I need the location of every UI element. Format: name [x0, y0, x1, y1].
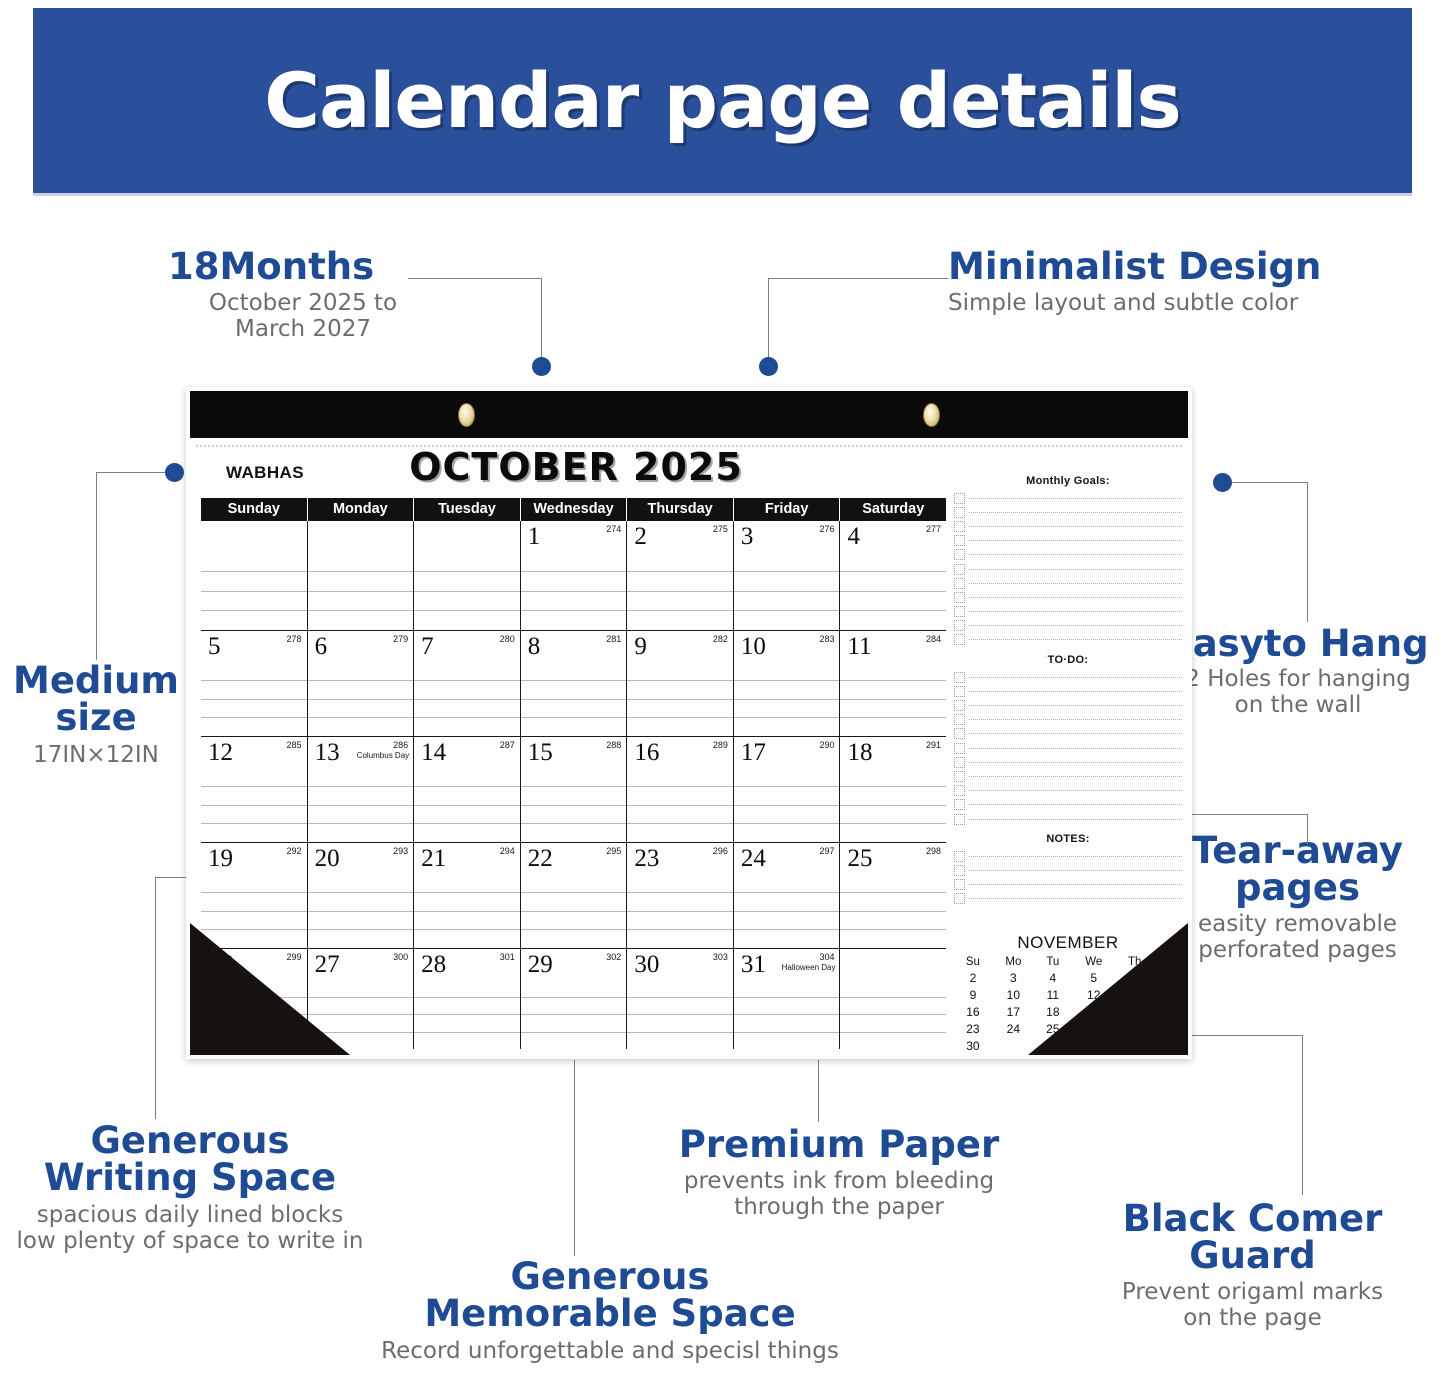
writing-line [308, 571, 414, 572]
day-number: 3 [741, 524, 754, 549]
note-line[interactable] [954, 491, 1182, 505]
month-title: OCTOBER 2025 [186, 445, 966, 489]
weekday-header-sunday: Sunday [201, 498, 308, 521]
writing-line [521, 892, 627, 893]
day-number: 12 [208, 740, 233, 765]
checkbox-icon[interactable] [954, 728, 965, 739]
note-rule [969, 790, 1182, 791]
writing-line [521, 823, 627, 824]
note-line[interactable] [954, 863, 1182, 877]
leader-line-guard-v [1302, 1035, 1303, 1195]
writing-line [521, 1032, 627, 1033]
day-number: 6 [315, 634, 328, 659]
hanging-hole-icon [458, 403, 475, 427]
writing-line [521, 786, 627, 787]
writing-line [308, 823, 414, 824]
note-rule [969, 625, 1182, 626]
writing-lines [201, 873, 307, 948]
month-week-rows: 1274227532764277527862797280828192821028… [201, 521, 946, 1049]
checkbox-icon[interactable] [954, 893, 965, 904]
writing-line [414, 1014, 520, 1015]
calendar-header-bar [190, 391, 1188, 438]
writing-line [201, 717, 307, 718]
callout-18months-title: 18Months [168, 248, 438, 285]
day-number: 18 [847, 740, 872, 765]
checkbox-icon[interactable] [954, 714, 965, 725]
checkbox-icon[interactable] [954, 578, 965, 589]
callout-corner-guard-title: Black Comer Guard [1060, 1200, 1445, 1274]
calendar-day-cell[interactable]: 9282 [627, 631, 734, 736]
day-of-year: 286 [393, 740, 408, 750]
day-of-year: 294 [500, 846, 515, 856]
day-number: 4 [847, 524, 860, 549]
checkbox-icon[interactable] [954, 851, 965, 862]
note-line[interactable] [954, 505, 1182, 519]
notes-lines[interactable] [954, 849, 1182, 906]
leader-line-medium-h [96, 472, 174, 473]
mini-month-day: 17 [992, 1003, 1035, 1020]
note-line[interactable] [954, 812, 1182, 826]
day-of-year: 285 [287, 740, 302, 750]
calendar-day-cell[interactable]: 22295 [521, 843, 628, 948]
writing-line [840, 823, 946, 824]
calendar-day-cell[interactable]: 23296 [627, 843, 734, 948]
day-number: 7 [421, 634, 434, 659]
hanging-hole-icon [923, 403, 940, 427]
callout-tear-away: Tear-away pages easity removable perfora… [1150, 832, 1445, 964]
writing-line [840, 892, 946, 893]
notes-label: NOTES: [954, 833, 1182, 845]
day-number: 23 [634, 846, 659, 871]
calendar-day-cell[interactable]: 18291 [840, 737, 946, 842]
writing-line [734, 610, 840, 611]
callout-easy-hang-sub: 2 Holes for hanging on the wall [1148, 667, 1445, 719]
calendar-day-cell[interactable]: 24297 [734, 843, 841, 948]
checkbox-icon[interactable] [954, 535, 965, 546]
calendar-day-cell[interactable]: 15288 [521, 737, 628, 842]
note-rule [969, 856, 1182, 857]
writing-line [201, 911, 307, 912]
calendar-day-cell[interactable]: 31304Halloween Day [734, 949, 841, 1049]
writing-lines [627, 873, 733, 948]
callout-writing-space: Generous Writing Space spacious daily li… [0, 1122, 380, 1255]
checkbox-icon[interactable] [954, 799, 965, 810]
monthly-goals-lines[interactable] [954, 491, 1182, 647]
calendar-day-cell[interactable]: 19292 [201, 843, 308, 948]
mini-month-day: 30 [954, 1037, 992, 1054]
calendar-empty-cell[interactable] [840, 949, 946, 1049]
mini-month-day: 16 [954, 1003, 992, 1020]
note-rule [969, 639, 1182, 640]
writing-line [201, 892, 307, 893]
writing-line [521, 717, 627, 718]
day-number: 2 [634, 524, 647, 549]
checkbox-icon[interactable] [954, 865, 965, 876]
calendar-day-cell[interactable]: 5278 [201, 631, 308, 736]
calendar-day-cell[interactable]: 16289 [627, 737, 734, 842]
writing-line [201, 591, 307, 592]
header-banner: Calendar page details [33, 8, 1412, 193]
day-of-year: 288 [606, 740, 621, 750]
note-line[interactable] [954, 755, 1182, 769]
checkbox-icon[interactable] [954, 814, 965, 825]
writing-line [627, 610, 733, 611]
leader-dot-hang [1213, 473, 1232, 492]
mini-month-weekday: We [1071, 955, 1117, 969]
day-of-year: 302 [606, 952, 621, 962]
note-rule [969, 691, 1182, 692]
day-number: 11 [847, 634, 871, 659]
note-line[interactable] [954, 878, 1182, 892]
writing-line [414, 680, 520, 681]
day-number: 21 [421, 846, 446, 871]
calendar-day-cell[interactable]: 14287 [414, 737, 521, 842]
checkbox-icon[interactable] [954, 620, 965, 631]
leader-dot-minimalist [759, 357, 778, 376]
writing-lines [627, 661, 733, 736]
day-of-year: 274 [606, 524, 621, 534]
writing-line [734, 805, 840, 806]
note-rule [969, 583, 1182, 584]
day-of-year: 296 [713, 846, 728, 856]
writing-line [308, 929, 414, 930]
writing-line [840, 699, 946, 700]
writing-line [414, 823, 520, 824]
weekday-header-saturday: Saturday [840, 498, 946, 521]
calendar-day-cell[interactable]: 1274 [521, 521, 628, 630]
callout-medium-size-sub: 17IN×12IN [0, 743, 192, 769]
writing-lines [627, 551, 733, 630]
writing-line [840, 571, 946, 572]
callout-writing-space-title: Generous Writing Space [0, 1122, 380, 1196]
calendar-day-cell[interactable]: 6279 [308, 631, 415, 736]
writing-line [840, 1014, 946, 1015]
day-number: 24 [741, 846, 766, 871]
callout-medium-size-title: Medium size [0, 662, 192, 736]
mini-month-day: 2 [954, 969, 992, 986]
writing-line [734, 823, 840, 824]
checkbox-icon[interactable] [954, 785, 965, 796]
writing-line [840, 929, 946, 930]
note-rule [969, 526, 1182, 527]
writing-lines [414, 551, 520, 630]
day-of-year: 297 [819, 846, 834, 856]
note-rule [969, 898, 1182, 899]
writing-line [734, 571, 840, 572]
note-line[interactable] [954, 619, 1182, 633]
note-rule [969, 884, 1182, 885]
note-line[interactable] [954, 849, 1182, 863]
writing-line [414, 591, 520, 592]
leader-line-minimalist-v [768, 278, 769, 362]
day-number: 28 [421, 952, 446, 977]
writing-lines [521, 767, 627, 842]
writing-line [627, 892, 733, 893]
writing-line [201, 699, 307, 700]
todo-label: TO·DO: [954, 654, 1182, 666]
day-of-year: 290 [819, 740, 834, 750]
checkbox-icon[interactable] [954, 493, 965, 504]
calendar-day-cell[interactable]: 17290 [734, 737, 841, 842]
writing-lines [308, 661, 414, 736]
writing-lines [734, 979, 840, 1049]
day-of-year: 304 [819, 952, 834, 962]
day-number: 10 [741, 634, 766, 659]
month-grid: Sunday Monday Tuesday Wednesday Thursday… [201, 498, 946, 1046]
writing-line [627, 680, 733, 681]
note-rule [969, 677, 1182, 678]
note-line[interactable] [954, 798, 1182, 812]
writing-lines [627, 979, 733, 1049]
note-rule [969, 776, 1182, 777]
calendar-day-cell[interactable]: 21294 [414, 843, 521, 948]
note-line[interactable] [954, 519, 1182, 533]
writing-line [840, 805, 946, 806]
callout-minimalist-title: Minimalist Design [948, 248, 1368, 285]
leader-line-18months-v [541, 278, 542, 362]
day-number: 29 [528, 952, 553, 977]
writing-line [627, 786, 733, 787]
calendar-day-cell[interactable]: 10283 [734, 631, 841, 736]
checkbox-icon[interactable] [954, 507, 965, 518]
note-rule [969, 611, 1182, 612]
checkbox-icon[interactable] [954, 879, 965, 890]
note-line[interactable] [954, 576, 1182, 590]
calendar-day-cell[interactable]: 11284 [840, 631, 946, 736]
writing-lines [734, 873, 840, 948]
note-line[interactable] [954, 534, 1182, 548]
mini-month-empty [992, 1037, 1035, 1054]
writing-line [734, 1032, 840, 1033]
note-line[interactable] [954, 741, 1182, 755]
calendar-day-cell[interactable]: 30303 [627, 949, 734, 1049]
writing-line [308, 591, 414, 592]
note-line[interactable] [954, 590, 1182, 604]
mini-month-day: 11 [1035, 986, 1071, 1003]
note-line[interactable] [954, 684, 1182, 698]
calendar-week-row: 1274227532764277 [201, 521, 946, 631]
calendar-day-cell[interactable]: 28301 [414, 949, 521, 1049]
mini-month-day: 4 [1035, 969, 1071, 986]
todo-lines[interactable] [954, 670, 1182, 826]
writing-line [308, 1014, 414, 1015]
checkbox-icon[interactable] [954, 549, 965, 560]
leader-line-18months-h [408, 278, 541, 279]
writing-line [521, 610, 627, 611]
writing-line [734, 1014, 840, 1015]
calendar-empty-cell[interactable] [201, 521, 308, 630]
writing-line [308, 805, 414, 806]
note-line[interactable] [954, 713, 1182, 727]
day-of-year: 278 [287, 634, 302, 644]
day-number: 25 [847, 846, 872, 871]
note-line[interactable] [954, 784, 1182, 798]
note-line[interactable] [954, 727, 1182, 741]
day-number: 20 [315, 846, 340, 871]
checkbox-icon[interactable] [954, 686, 965, 697]
note-rule [969, 540, 1182, 541]
calendar-week-row: 1228513286Columbus Day142871528816289172… [201, 737, 946, 843]
writing-line [627, 929, 733, 930]
writing-line [734, 997, 840, 998]
note-rule [969, 569, 1182, 570]
callout-memorable-space: Generous Memorable Space Record unforget… [330, 1258, 890, 1365]
writing-line [201, 680, 307, 681]
writing-line [734, 680, 840, 681]
day-of-year: 284 [926, 634, 941, 644]
writing-line [414, 805, 520, 806]
callout-easy-hang-title: Easyto Hang [1148, 625, 1445, 662]
checkbox-icon[interactable] [954, 606, 965, 617]
writing-lines [414, 767, 520, 842]
callout-tear-away-title: Tear-away pages [1150, 832, 1445, 906]
writing-lines [734, 661, 840, 736]
callout-18months-sub: October 2025 to March 2027 [168, 291, 438, 343]
writing-line [840, 717, 946, 718]
writing-lines [840, 767, 946, 842]
writing-lines [308, 873, 414, 948]
callout-corner-guard-sub: Prevent origaml marks on the page [1060, 1280, 1445, 1332]
calendar-day-cell[interactable]: 13286Columbus Day [308, 737, 415, 842]
day-of-year: 287 [500, 740, 515, 750]
checkbox-icon[interactable] [954, 700, 965, 711]
checkbox-icon[interactable] [954, 672, 965, 683]
writing-lines [521, 873, 627, 948]
writing-line [414, 1032, 520, 1033]
writing-line [414, 699, 520, 700]
writing-line [521, 929, 627, 930]
calendar-day-cell[interactable]: 25298 [840, 843, 946, 948]
writing-line [840, 591, 946, 592]
day-of-year: 277 [926, 524, 941, 534]
writing-line [521, 571, 627, 572]
note-line[interactable] [954, 605, 1182, 619]
day-number: 31 [741, 952, 766, 977]
calendar-day-cell[interactable]: 20293 [308, 843, 415, 948]
writing-lines [521, 979, 627, 1049]
callout-minimalist-sub: Simple layout and subtle color [948, 291, 1368, 317]
checkbox-icon[interactable] [954, 743, 965, 754]
mini-month-weekday: Su [954, 955, 992, 969]
writing-lines [308, 551, 414, 630]
weekday-header-monday: Monday [308, 498, 415, 521]
mini-month-day: 23 [954, 1020, 992, 1037]
calendar-day-cell[interactable]: 29302 [521, 949, 628, 1049]
writing-line [627, 1032, 733, 1033]
day-of-year: 292 [287, 846, 302, 856]
checkbox-icon[interactable] [954, 592, 965, 603]
leader-dot-18months [532, 357, 551, 376]
writing-line [734, 892, 840, 893]
writing-line [627, 805, 733, 806]
day-of-year: 303 [713, 952, 728, 962]
calendar-day-cell[interactable]: 2275 [627, 521, 734, 630]
note-line[interactable] [954, 562, 1182, 576]
weekday-header-tuesday: Tuesday [414, 498, 521, 521]
day-of-year: 279 [393, 634, 408, 644]
note-line[interactable] [954, 892, 1182, 906]
writing-line [308, 1032, 414, 1033]
writing-line [521, 699, 627, 700]
writing-line [308, 699, 414, 700]
calendar-empty-cell[interactable] [308, 521, 415, 630]
mini-month-day: 18 [1035, 1003, 1071, 1020]
callout-writing-space-sub: spacious daily lined blocks low plenty o… [0, 1203, 380, 1255]
writing-lines [627, 767, 733, 842]
writing-lines [201, 767, 307, 842]
writing-lines [521, 551, 627, 630]
day-of-year: 289 [713, 740, 728, 750]
calendar-sheet: WABHAS OCTOBER 2025 Sunday Monday Tuesda… [186, 387, 1192, 1059]
note-line[interactable] [954, 698, 1182, 712]
writing-lines [840, 551, 946, 630]
writing-line [414, 997, 520, 998]
day-of-year: 281 [606, 634, 621, 644]
writing-line [840, 997, 946, 998]
note-line[interactable] [954, 670, 1182, 684]
writing-line [627, 699, 733, 700]
writing-line [734, 929, 840, 930]
mini-month-title: NOVEMBER [954, 933, 1182, 953]
checkbox-icon[interactable] [954, 634, 965, 645]
writing-lines [840, 979, 946, 1049]
writing-lines [414, 979, 520, 1049]
writing-line [308, 786, 414, 787]
calendar-day-cell[interactable]: 8281 [521, 631, 628, 736]
callout-minimalist: Minimalist Design Simple layout and subt… [948, 248, 1368, 317]
writing-line [201, 823, 307, 824]
calendar-day-cell[interactable]: 7280 [414, 631, 521, 736]
day-of-year: 280 [500, 634, 515, 644]
writing-line [734, 699, 840, 700]
checkbox-icon[interactable] [954, 521, 965, 532]
note-line[interactable] [954, 633, 1182, 647]
writing-lines [840, 873, 946, 948]
leader-line-premium-v [818, 1060, 819, 1122]
leader-line-memorable-v [574, 1060, 575, 1256]
calendar-day-cell[interactable]: 4277 [840, 521, 946, 630]
note-rule [969, 719, 1182, 720]
note-rule [969, 498, 1182, 499]
note-line[interactable] [954, 769, 1182, 783]
checkbox-icon[interactable] [954, 564, 965, 575]
writing-line [734, 717, 840, 718]
leader-line-tear-v [1307, 814, 1308, 844]
day-of-year: 295 [606, 846, 621, 856]
note-line[interactable] [954, 548, 1182, 562]
mini-month-day: 3 [992, 969, 1035, 986]
mini-month-weekday: Mo [992, 955, 1035, 969]
calendar-week-row: 527862797280828192821028311284 [201, 631, 946, 737]
calendar-day-cell[interactable]: 12285 [201, 737, 308, 842]
checkbox-icon[interactable] [954, 757, 965, 768]
page-title: Calendar page details [264, 56, 1180, 145]
writing-lines [414, 661, 520, 736]
writing-line [840, 786, 946, 787]
note-rule [969, 733, 1182, 734]
callout-easy-hang: Easyto Hang 2 Holes for hanging on the w… [1148, 625, 1445, 719]
writing-line [840, 1032, 946, 1033]
writing-line [414, 929, 520, 930]
checkbox-icon[interactable] [954, 771, 965, 782]
note-rule [969, 554, 1182, 555]
calendar-day-cell[interactable]: 3276 [734, 521, 841, 630]
holiday-label: Halloween Day [782, 963, 836, 972]
writing-line [627, 911, 733, 912]
writing-lines [521, 661, 627, 736]
callout-premium-paper: Premium Paper prevents ink from bleeding… [628, 1126, 1050, 1221]
calendar-empty-cell[interactable] [414, 521, 521, 630]
